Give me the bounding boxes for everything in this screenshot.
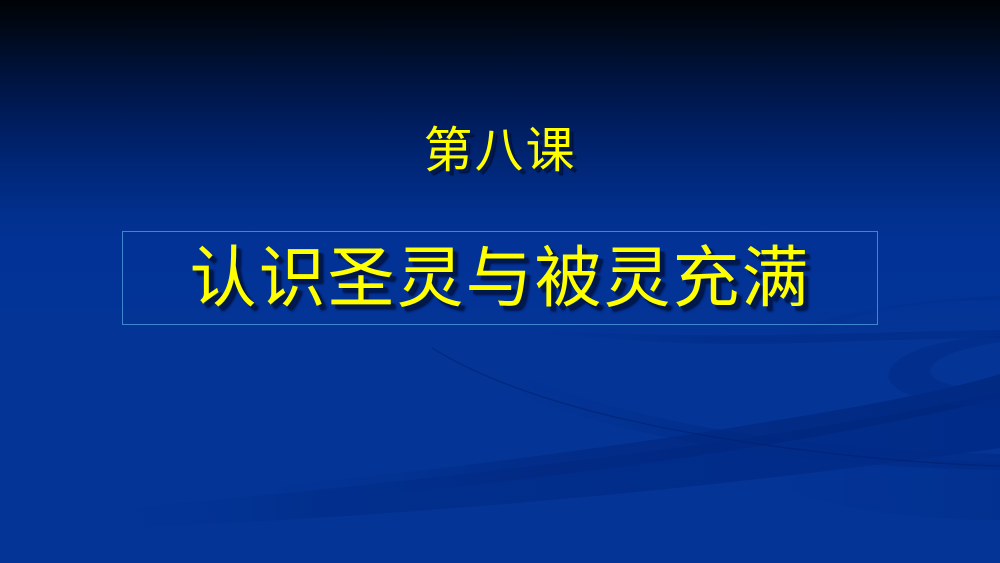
lesson-number-heading: 第八课: [0, 126, 1000, 175]
swoosh-curve-main: [448, 330, 1000, 470]
swoosh-ribbon-thin: [210, 374, 1000, 508]
swoosh-hairline: [432, 348, 1000, 466]
swoosh-hook-topright: [888, 336, 1000, 408]
swoosh-ribbon-wide: [70, 392, 1000, 530]
title-box: 认识圣灵与被灵充满: [122, 231, 878, 325]
slide-canvas: 第八课 认识圣灵与被灵充满: [0, 0, 1000, 563]
slide-main-title: 认识圣灵与被灵充满: [123, 232, 877, 324]
swoosh-arc-upper: [702, 296, 1000, 520]
